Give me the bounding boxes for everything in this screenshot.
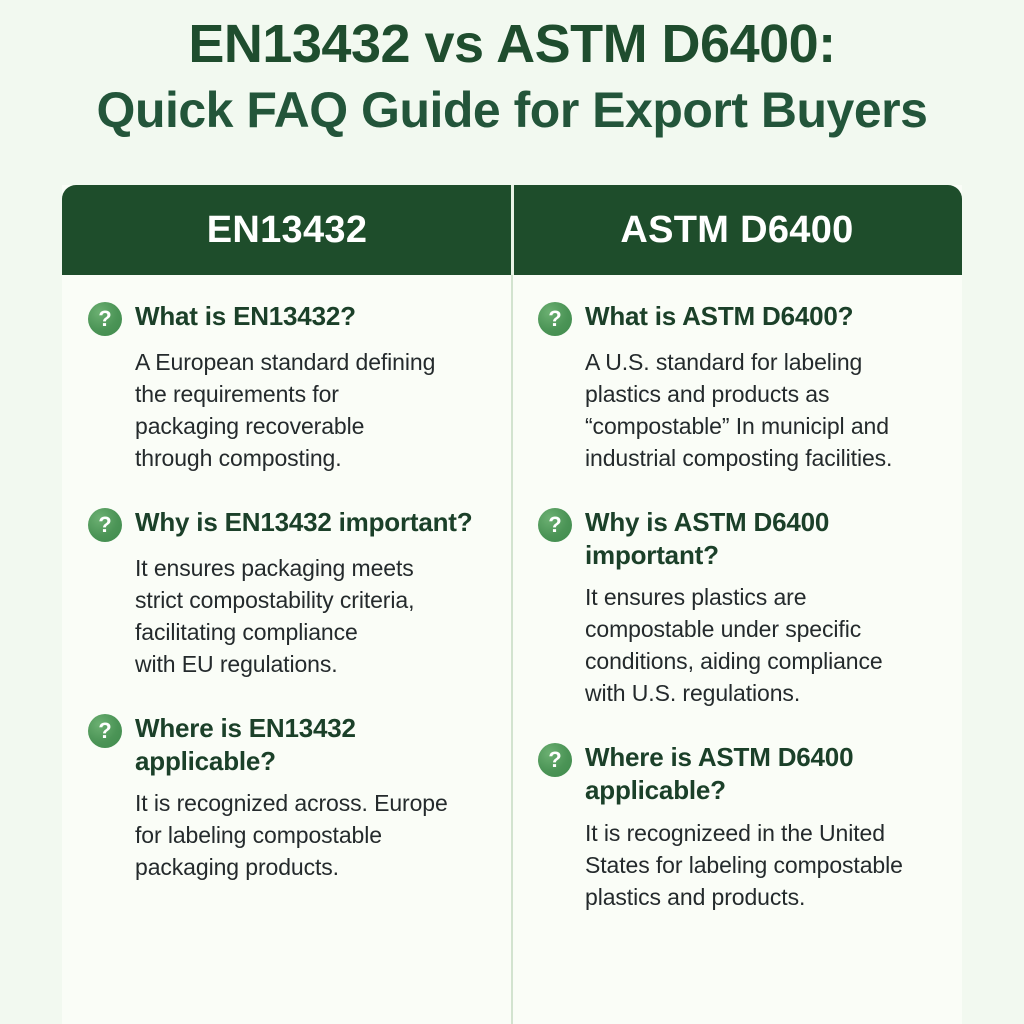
question-mark-icon: ? bbox=[88, 302, 122, 336]
faq-item: ? What is ASTM D6400? A U.S. standard fo… bbox=[538, 299, 936, 475]
column-astm-d6400: ? What is ASTM D6400? A U.S. standard fo… bbox=[512, 275, 962, 1024]
faq-question-row: ? What is EN13432? bbox=[88, 299, 486, 336]
column-en13432: ? What is EN13432? A European standard d… bbox=[62, 275, 512, 1024]
faq-item: ? Why is EN13432 important? It ensures p… bbox=[88, 505, 486, 681]
faq-item: ? Why is ASTM D6400 important? It ensure… bbox=[538, 505, 936, 710]
faq-question: What is ASTM D6400? bbox=[585, 299, 853, 333]
column-divider bbox=[511, 275, 513, 1024]
faq-item: ? What is EN13432? A European standard d… bbox=[88, 299, 486, 475]
question-mark-icon: ? bbox=[88, 508, 122, 542]
faq-answer: It ensures plastics are compostable unde… bbox=[585, 582, 936, 710]
faq-answer: A European standard defining the require… bbox=[135, 347, 486, 475]
comparison-panel: EN13432 ASTM D6400 ? What is EN13432? A … bbox=[62, 185, 962, 1024]
faq-answer: It is recognizeed in the United States f… bbox=[585, 818, 936, 914]
column-header-row: EN13432 ASTM D6400 bbox=[62, 185, 962, 275]
faq-question-row: ? Where is ASTM D6400 applicable? bbox=[538, 740, 936, 807]
faq-answer: It ensures packaging meets strict compos… bbox=[135, 553, 486, 681]
faq-item: ? Where is EN13432 applicable? It is rec… bbox=[88, 711, 486, 884]
header-split-divider bbox=[511, 185, 514, 275]
faq-question: Why is ASTM D6400 important? bbox=[585, 505, 936, 572]
faq-question-row: ? Where is EN13432 applicable? bbox=[88, 711, 486, 778]
comparison-body: ? What is EN13432? A European standard d… bbox=[62, 275, 962, 1024]
title-line-2: Quick FAQ Guide for Export Buyers bbox=[0, 80, 1024, 140]
column-header-en13432: EN13432 bbox=[62, 185, 512, 275]
faq-question: Where is ASTM D6400 applicable? bbox=[585, 740, 936, 807]
faq-question: Why is EN13432 important? bbox=[135, 505, 472, 539]
faq-answer: It is recognized across. Europe for labe… bbox=[135, 788, 486, 884]
question-mark-icon: ? bbox=[538, 508, 572, 542]
question-mark-icon: ? bbox=[88, 714, 122, 748]
title-line-1: EN13432 vs ASTM D6400: bbox=[0, 14, 1024, 76]
faq-question: Where is EN13432 applicable? bbox=[135, 711, 486, 778]
faq-answer: A U.S. standard for labeling plastics an… bbox=[585, 347, 936, 475]
question-mark-icon: ? bbox=[538, 743, 572, 777]
faq-question-row: ? What is ASTM D6400? bbox=[538, 299, 936, 336]
faq-question-row: ? Why is EN13432 important? bbox=[88, 505, 486, 542]
page-title: EN13432 vs ASTM D6400: Quick FAQ Guide f… bbox=[0, 0, 1024, 140]
faq-item: ? Where is ASTM D6400 applicable? It is … bbox=[538, 740, 936, 913]
faq-question: What is EN13432? bbox=[135, 299, 356, 333]
column-header-astm-d6400: ASTM D6400 bbox=[512, 185, 962, 275]
faq-question-row: ? Why is ASTM D6400 important? bbox=[538, 505, 936, 572]
question-mark-icon: ? bbox=[538, 302, 572, 336]
